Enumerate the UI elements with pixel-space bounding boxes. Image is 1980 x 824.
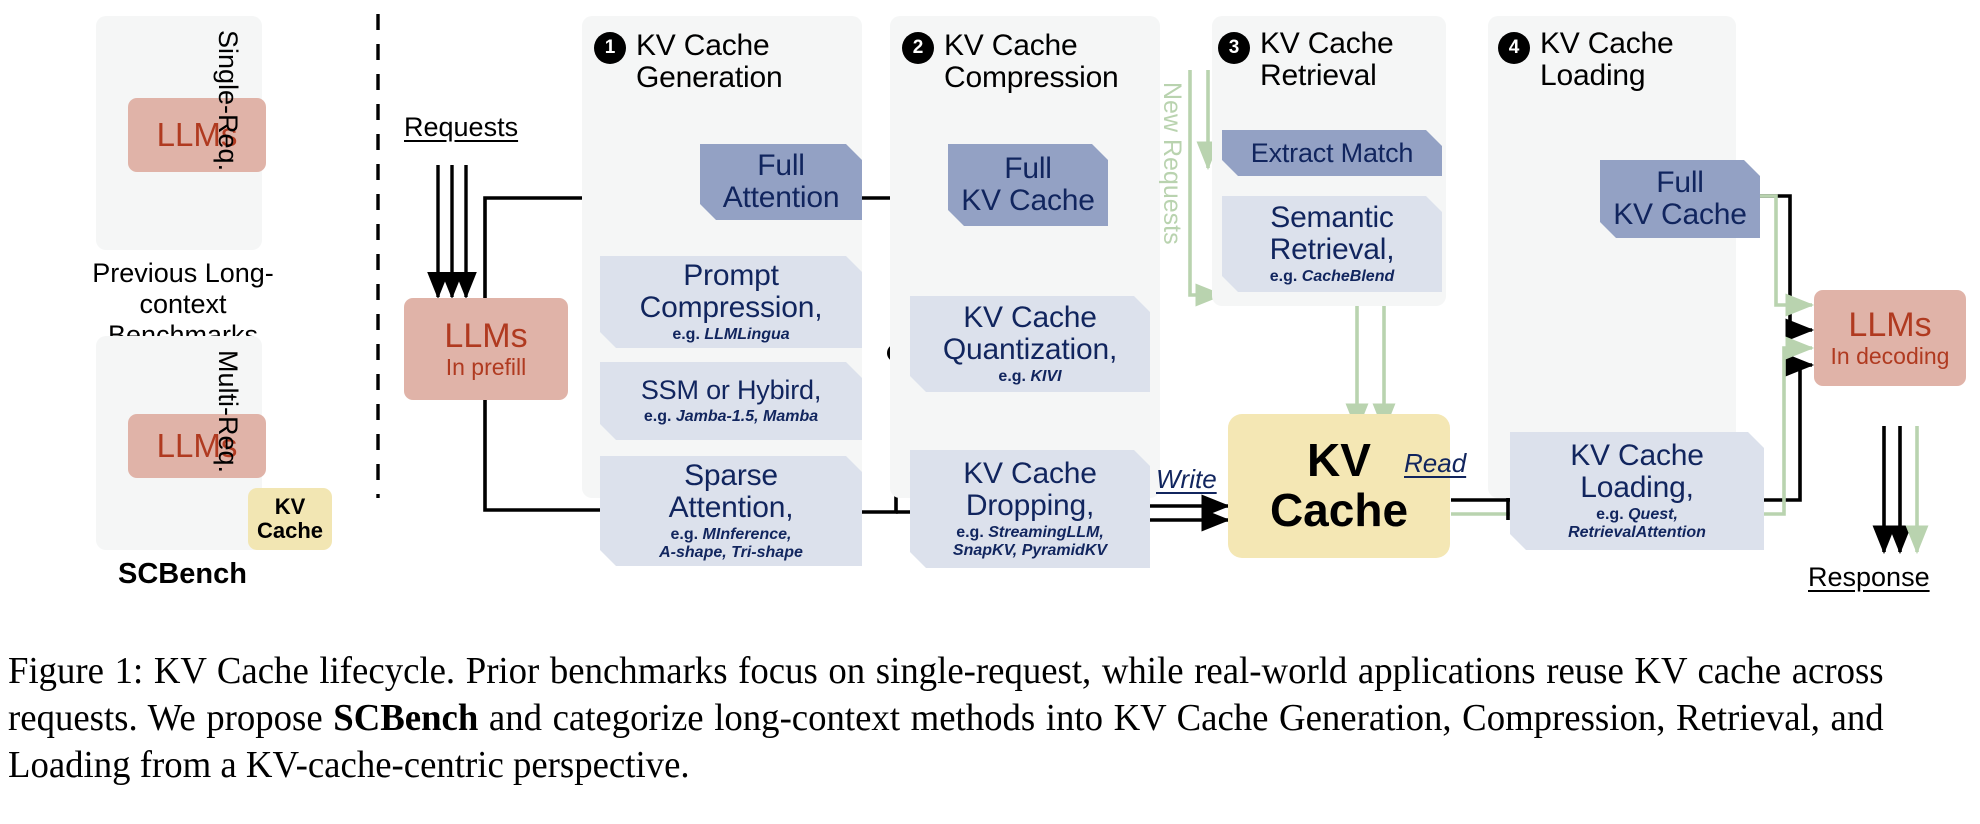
multi-req-llms-box: LLMs: [128, 414, 266, 478]
loading-to-decoding-green: [1764, 348, 1812, 514]
column-title-generation: KV Cache Generation: [636, 30, 854, 95]
column-title-loading: KV Cache Loading: [1540, 28, 1740, 93]
scbench-label: SCBench: [118, 558, 247, 591]
write-label: Write: [1156, 464, 1217, 495]
column-badge-1: 1: [594, 32, 626, 64]
chip-eg: e.g. StreamingLLM, SnapKV, PyramidKV: [953, 524, 1107, 560]
chip-kv-cache-quantization[interactable]: KV Cache Quantization, e.g. KIVI: [910, 296, 1150, 392]
chip-eg: e.g. Jamba-1.5, Mamba: [644, 408, 818, 426]
chip-kv-cache-loading[interactable]: KV Cache Loading, e.g. Quest, RetrievalA…: [1510, 432, 1764, 550]
llms-decoding-sub: In decoding: [1831, 344, 1950, 368]
chip-eg: e.g. CacheBlend: [1270, 268, 1394, 286]
chip-full-kv-cache-compression[interactable]: Full KV Cache: [948, 144, 1108, 226]
chip-extract-match[interactable]: Extract Match: [1222, 130, 1442, 176]
response-label: Response: [1808, 562, 1930, 593]
chip-kv-cache-dropping[interactable]: KV Cache Dropping, e.g. StreamingLLM, Sn…: [910, 450, 1150, 568]
chip-sparse-attention[interactable]: Sparse Attention, e.g. MInference, A-sha…: [600, 456, 862, 566]
kv-cache-line2: Cache: [257, 519, 323, 543]
llms-prefill-title: LLMs: [444, 319, 527, 355]
kv-cache-store-line1: KV: [1307, 436, 1371, 486]
multi-req-vertical-label: Multi-Req.: [212, 350, 243, 473]
chip-full-attention[interactable]: Full Attention: [700, 144, 862, 220]
chip-eg: e.g. KIVI: [998, 368, 1061, 386]
figure-canvas: LLMs Single-Req. Previous Long-context B…: [0, 0, 1980, 640]
loading-to-decoding: [1764, 365, 1812, 500]
figure-caption: Figure 1: KV Cache lifecycle. Prior benc…: [8, 648, 1884, 789]
requests-label: Requests: [404, 112, 518, 143]
chip-semantic-retrieval[interactable]: Semantic Retrieval, e.g. CacheBlend: [1222, 196, 1442, 292]
llms-prefill-sub: In prefill: [446, 355, 527, 379]
single-req-vertical-label: Single-Req.: [212, 30, 243, 171]
column-badge-4: 4: [1498, 32, 1530, 64]
read-label: Read: [1404, 448, 1466, 479]
request-inflow-arrows: [438, 165, 466, 297]
kv-cache-store-box: KV Cache: [1228, 414, 1450, 558]
kv-cache-line1: KV: [275, 495, 306, 519]
chip-eg: e.g. MInference, A-shape, Tri-shape: [659, 526, 803, 562]
column-title-compression: KV Cache Compression: [944, 30, 1162, 95]
column-badge-2: 2: [902, 32, 934, 64]
column-badge-3: 3: [1218, 32, 1250, 64]
chip-eg: e.g. Quest, RetrievalAttention: [1568, 506, 1706, 542]
chip-eg: e.g. LLMLingua: [672, 326, 789, 344]
response-arrows: [1884, 426, 1900, 552]
single-req-llms-box: LLMs: [128, 98, 266, 172]
caption-bold: SCBench: [333, 697, 478, 739]
chip-full-kv-cache-loading[interactable]: Full KV Cache: [1600, 160, 1760, 238]
chip-prompt-compression[interactable]: Prompt Compression, e.g. LLMLingua: [600, 256, 862, 348]
left-kv-cache-box: KV Cache: [248, 488, 332, 550]
column-title-retrieval: KV Cache Retrieval: [1260, 28, 1460, 93]
llms-decoding-title: LLMs: [1848, 308, 1931, 344]
chip-ssm-or-hybrid[interactable]: SSM or Hybird, e.g. Jamba-1.5, Mamba: [600, 362, 862, 440]
new-requests-label: New Requests: [1157, 82, 1186, 245]
llms-prefill-box: LLMs In prefill: [404, 298, 568, 400]
llms-decoding-box: LLMs In decoding: [1814, 290, 1966, 386]
kv-cache-store-line2: Cache: [1270, 486, 1408, 536]
